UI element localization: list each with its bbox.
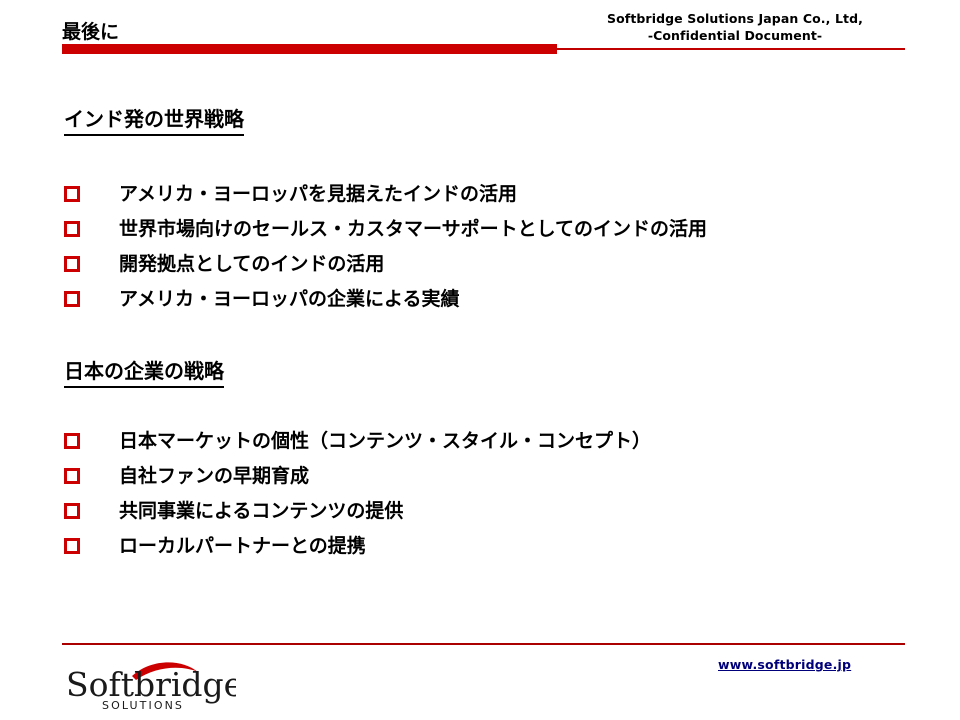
list-item: 開発拠点としてのインドの活用 bbox=[64, 246, 707, 281]
bullet-list-japan-strategy: 日本マーケットの個性（コンテンツ・スタイル・コンセプト） 自社ファンの早期育成 … bbox=[64, 423, 651, 563]
square-bullet-icon bbox=[64, 221, 80, 237]
list-item-label: ローカルパートナーとの提携 bbox=[119, 535, 366, 557]
softbridge-logo: Softbridge SOLUTIONS bbox=[66, 656, 236, 712]
slide-canvas: Softbridge Solutions Japan Co., Ltd, -Co… bbox=[0, 0, 960, 720]
section-heading: 日本の企業の戦略 bbox=[64, 358, 224, 388]
section-japan-strategy: 日本の企業の戦略 bbox=[64, 358, 224, 388]
square-bullet-icon bbox=[64, 256, 80, 272]
bullet-list: 日本マーケットの個性（コンテンツ・スタイル・コンセプト） 自社ファンの早期育成 … bbox=[64, 423, 651, 563]
footer-divider bbox=[62, 643, 905, 645]
list-item: 共同事業によるコンテンツの提供 bbox=[64, 493, 651, 528]
section-heading: インド発の世界戦略 bbox=[64, 106, 244, 136]
square-bullet-icon bbox=[64, 468, 80, 484]
list-item: 日本マーケットの個性（コンテンツ・スタイル・コンセプト） bbox=[64, 423, 651, 458]
section-global-strategy: インド発の世界戦略 bbox=[64, 106, 244, 136]
list-item-label: アメリカ・ヨーロッパの企業による実績 bbox=[119, 288, 459, 310]
website-link[interactable]: www.softbridge.jp bbox=[718, 657, 851, 672]
square-bullet-icon bbox=[64, 503, 80, 519]
svg-text:SOLUTIONS: SOLUTIONS bbox=[102, 699, 184, 712]
list-item: 世界市場向けのセールス・カスタマーサポートとしてのインドの活用 bbox=[64, 211, 707, 246]
corporate-header: Softbridge Solutions Japan Co., Ltd, -Co… bbox=[560, 10, 910, 44]
list-item: ローカルパートナーとの提携 bbox=[64, 528, 651, 563]
company-name: Softbridge Solutions Japan Co., Ltd, bbox=[560, 10, 910, 27]
list-item: アメリカ・ヨーロッパを見据えたインドの活用 bbox=[64, 176, 707, 211]
bullet-list-global-strategy: アメリカ・ヨーロッパを見据えたインドの活用 世界市場向けのセールス・カスタマーサ… bbox=[64, 176, 707, 316]
list-item: アメリカ・ヨーロッパの企業による実績 bbox=[64, 281, 707, 316]
square-bullet-icon bbox=[64, 291, 80, 307]
bullet-list: アメリカ・ヨーロッパを見据えたインドの活用 世界市場向けのセールス・カスタマーサ… bbox=[64, 176, 707, 316]
header-accent-bar bbox=[62, 44, 557, 54]
list-item-label: アメリカ・ヨーロッパを見据えたインドの活用 bbox=[119, 183, 517, 205]
square-bullet-icon bbox=[64, 186, 80, 202]
list-item: 自社ファンの早期育成 bbox=[64, 458, 651, 493]
list-item-label: 自社ファンの早期育成 bbox=[119, 465, 309, 487]
square-bullet-icon bbox=[64, 433, 80, 449]
list-item-label: 日本マーケットの個性（コンテンツ・スタイル・コンセプト） bbox=[119, 430, 651, 452]
page-title: 最後に bbox=[62, 20, 119, 47]
confidential-notice: -Confidential Document- bbox=[560, 27, 910, 44]
list-item-label: 開発拠点としてのインドの活用 bbox=[119, 253, 384, 275]
list-item-label: 世界市場向けのセールス・カスタマーサポートとしてのインドの活用 bbox=[119, 218, 707, 240]
square-bullet-icon bbox=[64, 538, 80, 554]
list-item-label: 共同事業によるコンテンツの提供 bbox=[119, 500, 403, 522]
